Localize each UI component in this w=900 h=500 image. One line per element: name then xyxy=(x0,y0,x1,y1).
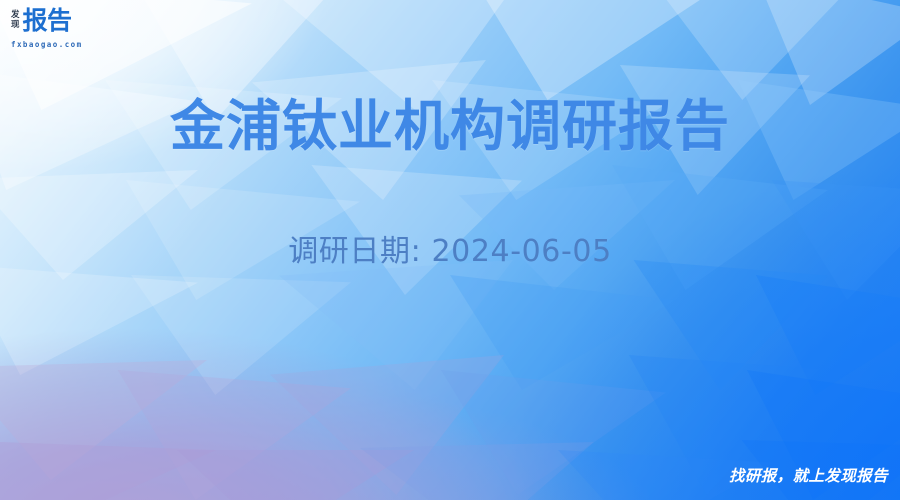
brand-mark-stack: 发 现 xyxy=(11,9,20,30)
brand-logo[interactable]: 发 现 报告 fxbaogao.com xyxy=(11,9,107,53)
brand-mark-char-2: 现 xyxy=(11,21,20,31)
brand-wordmark: 报告 xyxy=(23,8,72,33)
footer-tagline: 找研报，就上发现报告 xyxy=(729,467,888,486)
brand-url: fxbaogao.com xyxy=(11,40,83,49)
page-subtitle: 调研日期: 2024-06-05 xyxy=(0,231,900,273)
report-cover: 发 现 报告 fxbaogao.com 金浦钛业机构调研报告 调研日期: 202… xyxy=(0,0,900,500)
page-title: 金浦钛业机构调研报告 xyxy=(0,92,900,160)
